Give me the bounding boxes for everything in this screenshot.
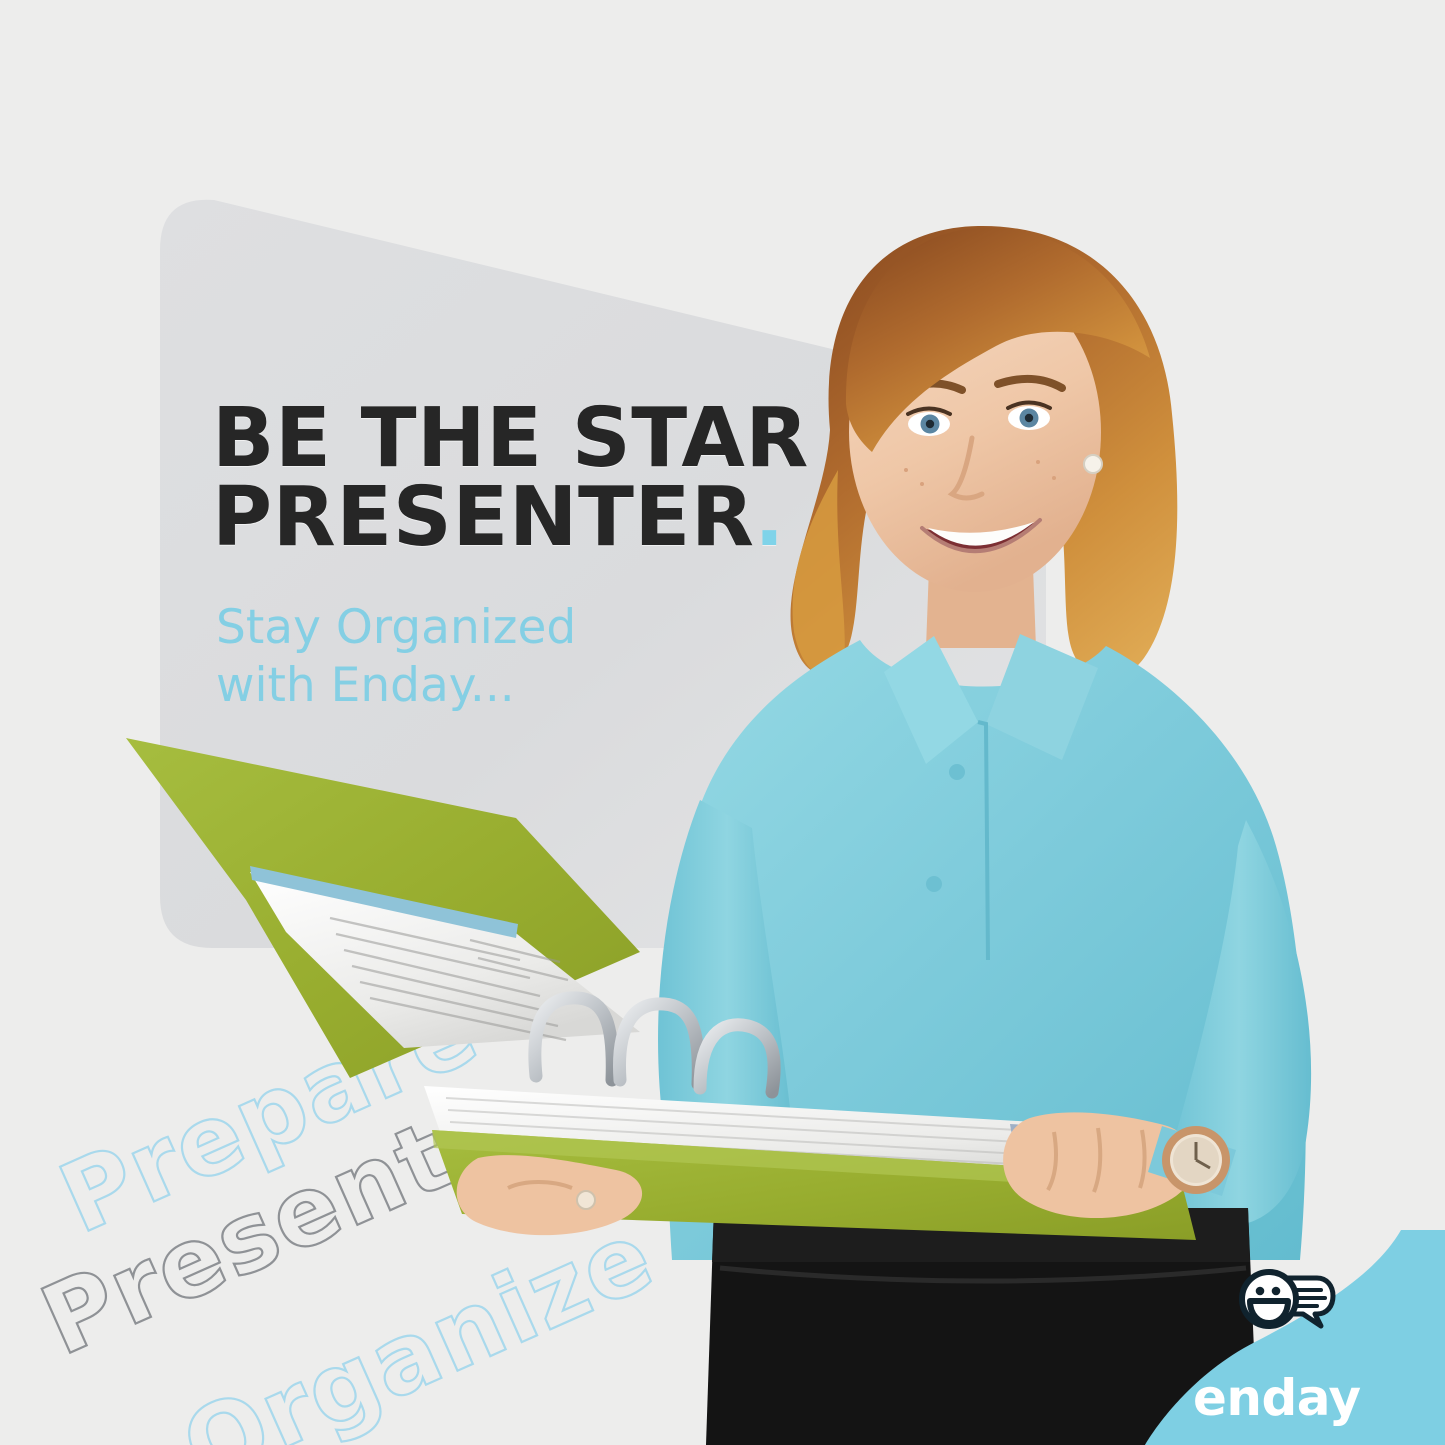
subject-photo xyxy=(0,0,1445,1445)
subhead-line-2: with Enday... xyxy=(216,658,515,713)
copy-block: BE THE STAR PRESENTER. Stay Organized wi… xyxy=(212,400,912,714)
subhead: Stay Organized with Enday... xyxy=(216,599,912,714)
page-title: BE THE STAR PRESENTER. xyxy=(212,400,912,557)
enday-smiley-speech-bubble-icon xyxy=(1231,1268,1339,1340)
promo-image-canvas: Prepare Present Organize BE THE STAR PRE… xyxy=(0,0,1445,1445)
subhead-line-1: Stay Organized xyxy=(216,600,576,655)
headline-period: . xyxy=(755,474,785,564)
logo-wordmark: enday xyxy=(1193,1369,1361,1427)
enday-logo[interactable]: enday xyxy=(1145,1230,1445,1445)
headline-line-2: PRESENTER xyxy=(212,470,755,565)
